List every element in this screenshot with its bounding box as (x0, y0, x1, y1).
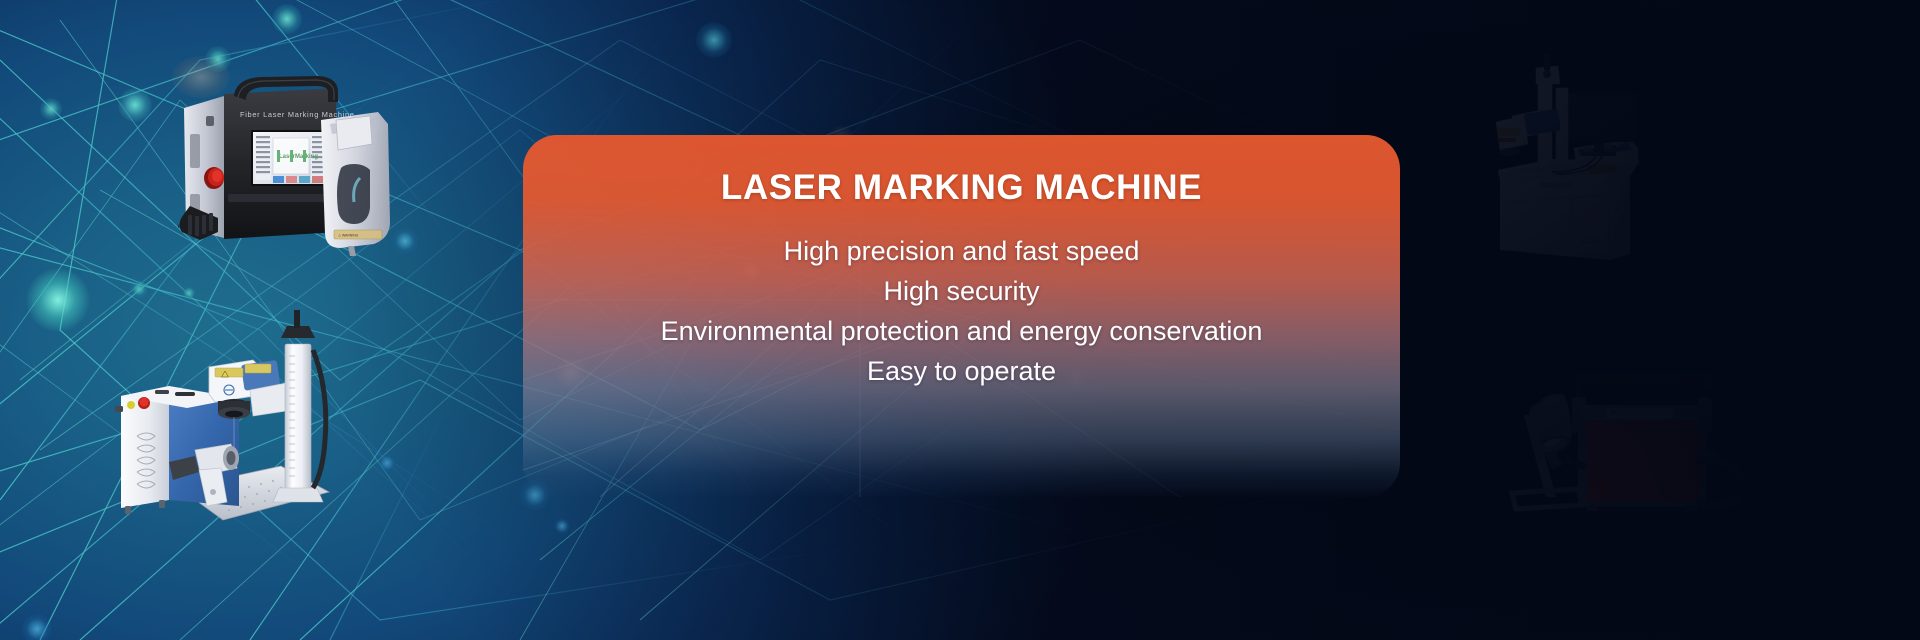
promo-card-inner: LASER MARKING MACHINE High precision and… (523, 135, 1400, 497)
feature-item: Environmental protection and energy cons… (523, 311, 1400, 351)
feature-item: High security (523, 271, 1400, 311)
laser-marking-machine-banner: Fiber Laser Marking Machine Las (0, 0, 1920, 640)
promo-card: LASER MARKING MACHINE High precision and… (523, 135, 1400, 497)
feature-list: High precision and fast speed High secur… (523, 231, 1400, 391)
feature-item: High precision and fast speed (523, 231, 1400, 271)
page-title: LASER MARKING MACHINE (523, 168, 1400, 208)
feature-item: Easy to operate (523, 351, 1400, 391)
